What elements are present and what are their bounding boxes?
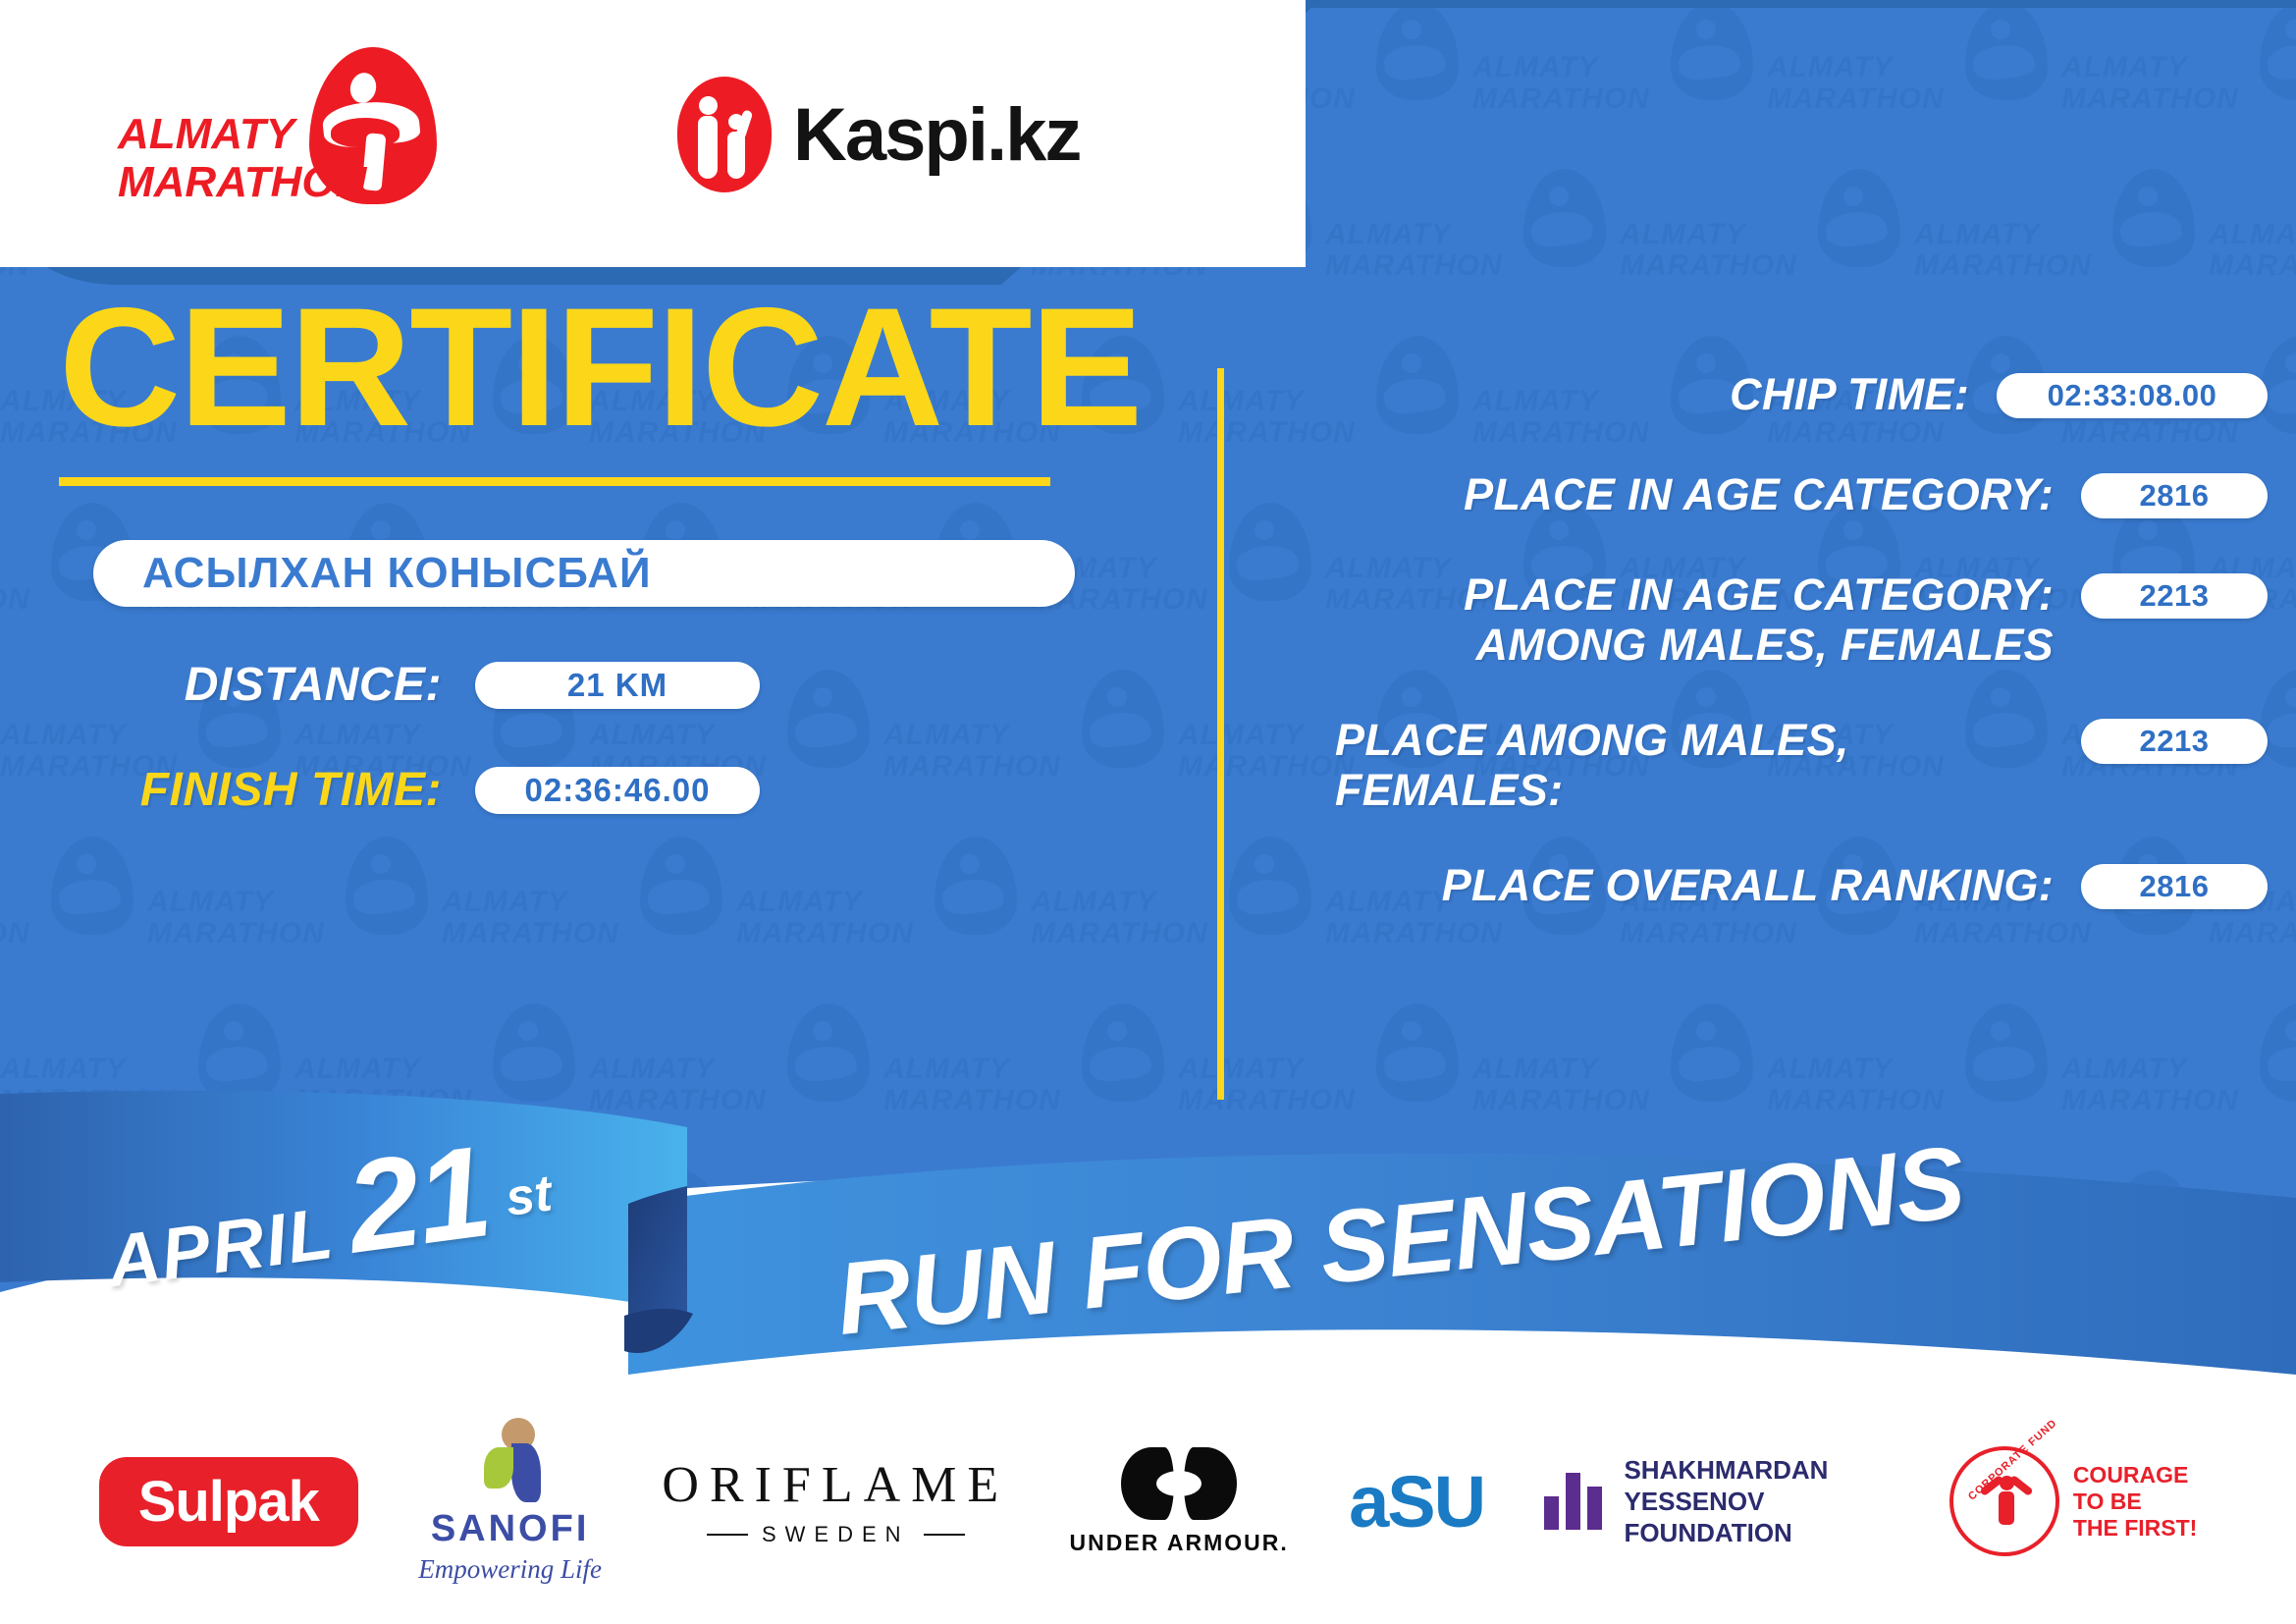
watermark-line1: ALMATY <box>736 886 863 919</box>
watermark-tile: ALMATYMARATHON <box>736 835 1031 1001</box>
place-among-males-females-line1: PLACE AMONG MALES, <box>1335 715 2071 765</box>
watermark-line2: MARATHON <box>442 917 619 950</box>
ribbon-day: 21 <box>341 1133 495 1267</box>
chip-time-value: 02:33:08.00 <box>2048 378 2217 413</box>
sanofi-mark-icon <box>472 1418 549 1502</box>
kaspi-logo-text: Kaspi.kz <box>793 92 1080 178</box>
watermark-tile: ALMATYMARATHON <box>147 835 442 1001</box>
certificate-left-column: CERTIFICATE АСЫЛХАН КОНЫСБАЙ DISTANCE: 2… <box>0 285 1188 817</box>
watermark-line2: MARATHON <box>1325 249 1503 283</box>
place-among-males-females-value-pill: 2213 <box>2081 719 2268 764</box>
watermark-tile: ALMATYMARATHON <box>1325 167 1620 334</box>
distance-value: 21 KM <box>567 667 667 704</box>
watermark-runner-icon <box>346 837 428 935</box>
sponsor-sanofi: SANOFI Empowering Life <box>418 1418 602 1585</box>
watermark-line1: ALMATY <box>1472 51 1599 84</box>
sponsor-yessenov-foundation: SHAKHMARDAN YESSENOV FOUNDATION <box>1544 1454 1889 1548</box>
watermark-line1: ALMATY <box>1031 886 1157 919</box>
watermark-line1: ALMATY <box>2209 218 2296 251</box>
watermark-line2: MARATHON <box>0 917 30 950</box>
finish-time-value: 02:36:46.00 <box>525 772 711 809</box>
yessenov-bars-icon <box>1544 1473 1602 1530</box>
watermark-tile: ALMATYMARATHON <box>442 835 736 1001</box>
yessenov-logo-text: SHAKHMARDAN YESSENOV FOUNDATION <box>1624 1454 1889 1548</box>
stat-row-place-age-category: PLACE IN AGE CATEGORY: 2816 <box>1266 465 2268 524</box>
under-armour-logo-text: UNDER ARMOUR. <box>1070 1530 1289 1556</box>
distance-row: DISTANCE: 21 KM <box>93 658 1188 712</box>
corporate-fund-line1: COURAGE <box>2073 1462 2198 1489</box>
kaspi-figures-icon <box>677 77 772 192</box>
oriflame-sub-text: SWEDEN <box>762 1522 910 1547</box>
place-age-category-among-value-pill: 2213 <box>2081 573 2268 619</box>
corporate-fund-logo-text: COURAGE TO BE THE FIRST! <box>2073 1462 2198 1542</box>
corporate-fund-figure-icon: CORPORATE FUND <box>1949 1446 2059 1556</box>
kaspi-logo: Kaspi.kz <box>677 77 1080 192</box>
watermark-line2: MARATHON <box>1031 917 1208 950</box>
event-ribbon: APRIL 21 st RUN FOR SENSATIONS <box>0 1080 2296 1404</box>
watermark-line2: MARATHON <box>1914 249 2092 283</box>
chip-time-label: CHIP TIME: <box>1266 365 1997 419</box>
place-among-males-females-line2: FEMALES: <box>1335 765 2071 815</box>
athlete-name-value: АСЫЛХАН КОНЫСБАЙ <box>93 549 652 598</box>
oriflame-rule-right <box>924 1534 965 1536</box>
sponsor-under-armour: UNDER ARMOUR. <box>1070 1447 1289 1556</box>
place-overall-ranking-label: PLACE OVERALL RANKING: <box>1266 856 2081 910</box>
distance-label: DISTANCE: <box>93 658 475 712</box>
sanofi-logo-text: SANOFI <box>431 1508 590 1550</box>
place-overall-ranking-value-pill: 2816 <box>2081 864 2268 909</box>
certificate-stats-column: CHIP TIME: 02:33:08.00 PLACE IN AGE CATE… <box>1266 365 2268 956</box>
sponsor-sulpak: Sulpak <box>99 1457 358 1546</box>
logo-line-2: MARATHON <box>118 158 314 206</box>
almaty-marathon-logo-text: ALMATY MARATHON <box>118 110 314 206</box>
watermark-runner-icon <box>1965 2 2048 100</box>
logo-line-1: ALMATY <box>118 110 314 158</box>
place-among-males-females-label: PLACE AMONG MALES, FEMALES: <box>1266 711 2081 815</box>
watermark-line2: MARATHON <box>1620 249 1797 283</box>
watermark-tile: ALMATYMARATHON <box>1914 167 2209 334</box>
watermark-runner-icon <box>640 837 722 935</box>
place-age-category-among-label: PLACE IN AGE CATEGORY: AMONG MALES, FEMA… <box>1266 566 2081 670</box>
place-age-category-label: PLACE IN AGE CATEGORY: <box>1266 465 2081 519</box>
watermark-line1: ALMATY <box>1620 218 1746 251</box>
watermark-line2: MARATHON <box>147 917 325 950</box>
sulpak-logo: Sulpak <box>99 1457 358 1546</box>
finish-time-label: FINISH TIME: <box>93 763 475 817</box>
corporate-fund-arc-text: CORPORATE FUND <box>1966 1417 2059 1502</box>
watermark-tile: ALMATYMARATHON <box>0 835 147 1001</box>
watermark-line2: MARATHON <box>2061 82 2239 116</box>
oriflame-logo-text: ORIFLAME <box>662 1456 1009 1514</box>
watermark-runner-icon <box>1818 169 1900 267</box>
place-age-category-among-line2: AMONG MALES, FEMALES <box>1266 620 2054 670</box>
place-age-category-among-line1: PLACE IN AGE CATEGORY: <box>1266 569 2054 620</box>
watermark-runner-icon <box>934 837 1017 935</box>
stat-row-chip-time: CHIP TIME: 02:33:08.00 <box>1266 365 2268 424</box>
watermark-line1: ALMATY <box>1914 218 2041 251</box>
chip-time-value-pill: 02:33:08.00 <box>1997 373 2268 418</box>
under-armour-icon <box>1121 1447 1237 1520</box>
asu-logo-text: aSU <box>1349 1460 1484 1543</box>
watermark-runner-icon <box>1523 169 1606 267</box>
stat-row-place-age-category-among: PLACE IN AGE CATEGORY: AMONG MALES, FEMA… <box>1266 566 2268 670</box>
watermark-line1: ALMATY <box>1325 218 1452 251</box>
corporate-fund-line2: TO BE <box>2073 1489 2198 1515</box>
almaty-marathon-logo: ALMATY MARATHON <box>118 47 442 209</box>
place-among-males-females-value: 2213 <box>2140 724 2210 759</box>
place-overall-ranking-value: 2816 <box>2140 869 2210 904</box>
column-divider <box>1217 368 1224 1100</box>
watermark-runner-icon <box>1376 2 1459 100</box>
certificate-title: CERTIFICATE <box>0 285 1188 450</box>
place-age-category-value: 2816 <box>2140 478 2210 514</box>
watermark-tile: ALMATYMARATHON <box>1472 0 1767 167</box>
sulpak-logo-text: Sulpak <box>138 1470 319 1534</box>
distance-value-pill: 21 KM <box>475 662 760 709</box>
finish-time-value-pill: 02:36:46.00 <box>475 767 760 814</box>
watermark-runner-icon <box>1671 2 1753 100</box>
watermark-runner-icon <box>2112 169 2195 267</box>
oriflame-rule-left <box>707 1534 748 1536</box>
place-age-category-among-value: 2213 <box>2140 578 2210 614</box>
athlete-name-field: АСЫЛХАН КОНЫСБАЙ <box>93 540 1075 607</box>
watermark-line2: MARATHON <box>1472 82 1650 116</box>
watermark-tile: ALMATYMARATHON <box>1767 0 2061 167</box>
sanofi-tagline: Empowering Life <box>418 1554 602 1585</box>
yessenov-line1: SHAKHMARDAN YESSENOV <box>1624 1454 1889 1517</box>
certificate-page: ALMATYMARATHONALMATYMARATHONALMATYMARATH… <box>0 0 2296 1624</box>
sponsor-corporate-fund: CORPORATE FUND COURAGE TO BE THE FIRST! <box>1949 1446 2198 1556</box>
watermark-tile: ALMATYMARATHON <box>2061 0 2296 167</box>
finish-time-row: FINISH TIME: 02:36:46.00 <box>93 763 1188 817</box>
watermark-runner-icon <box>51 837 133 935</box>
header-logos: ALMATY MARATHON Kaspi.kz <box>0 0 1178 257</box>
watermark-line2: MARATHON <box>736 917 914 950</box>
oriflame-subtitle: SWEDEN <box>707 1522 965 1547</box>
yessenov-line2: FOUNDATION <box>1624 1517 1889 1548</box>
sponsor-asu: aSU <box>1349 1460 1484 1543</box>
corporate-fund-line3: THE FIRST! <box>2073 1515 2198 1542</box>
sponsor-oriflame: ORIFLAME SWEDEN <box>662 1456 1009 1547</box>
watermark-line1: ALMATY <box>442 886 568 919</box>
sponsor-logos-row: Sulpak SANOFI Empowering Life ORIFLAME S… <box>0 1379 2296 1624</box>
stat-row-place-overall-ranking: PLACE OVERALL RANKING: 2816 <box>1266 856 2268 915</box>
place-age-category-value-pill: 2816 <box>2081 473 2268 518</box>
watermark-tile: ALMATYMARATHON <box>1620 167 1914 334</box>
watermark-line2: MARATHON <box>1767 82 1945 116</box>
watermark-line1: ALMATY <box>2061 51 2188 84</box>
title-underline-rule <box>59 477 1050 486</box>
watermark-line1: ALMATY <box>147 886 274 919</box>
watermark-line1: ALMATY <box>1767 51 1894 84</box>
stat-row-place-among-males-females: PLACE AMONG MALES, FEMALES: 2213 <box>1266 711 2268 815</box>
watermark-tile: ALMATYMARATHON <box>2209 167 2296 334</box>
watermark-line2: MARATHON <box>2209 249 2296 283</box>
watermark-runner-icon <box>2260 2 2296 100</box>
